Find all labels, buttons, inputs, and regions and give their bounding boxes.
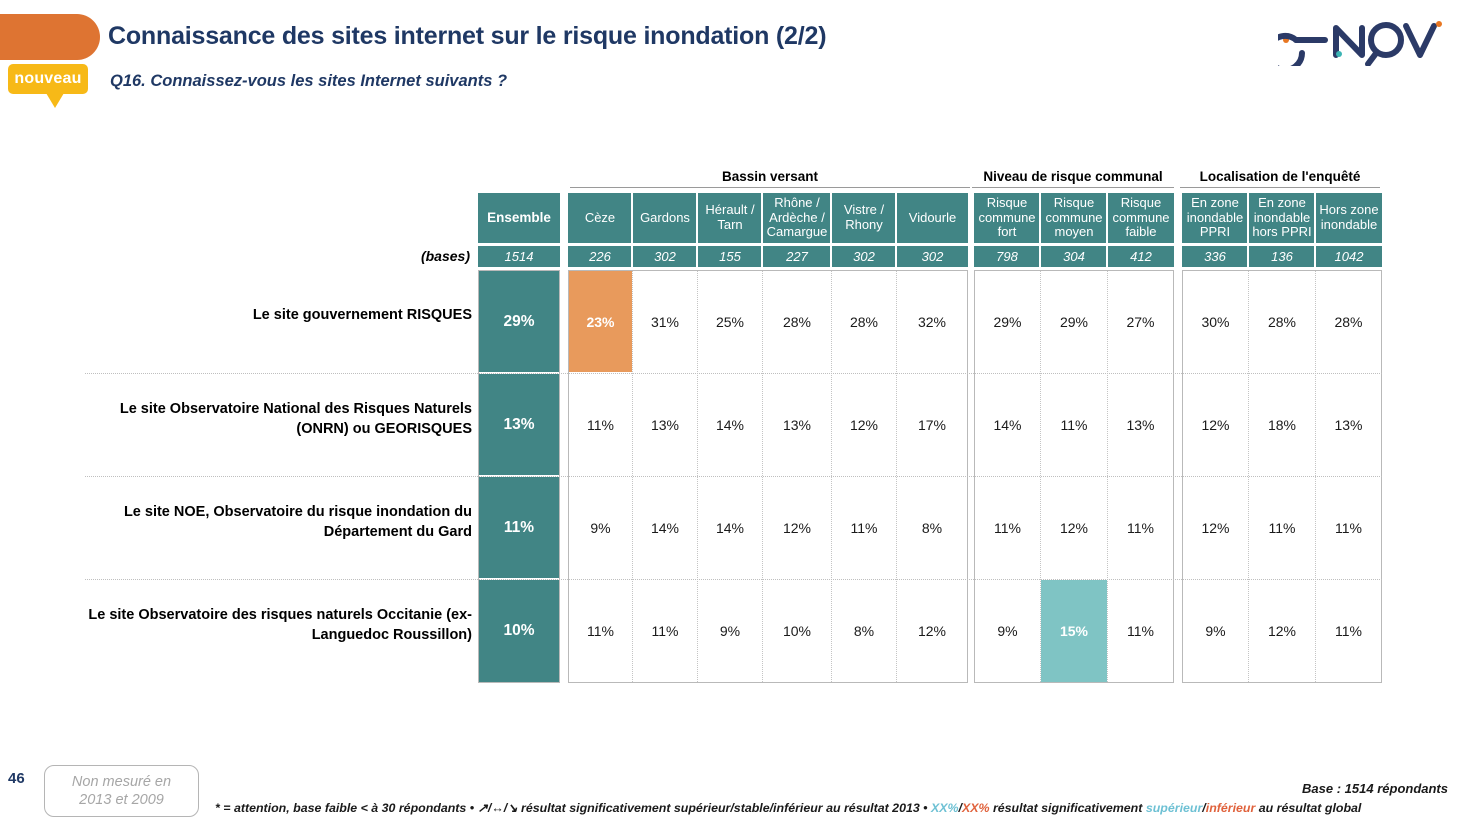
table-cell: 32%	[897, 271, 967, 372]
col-header-vistre-rhony: Vistre / Rhony	[832, 193, 896, 243]
row-ensemble-value: 13%	[479, 374, 559, 475]
header-divider	[1039, 193, 1041, 267]
col-header-zone-inondable-hors-ppri: En zone inondable hors PPRI	[1249, 193, 1315, 243]
table-cell: 11%	[975, 477, 1040, 578]
row-label: Le site Observatoire National des Risque…	[80, 400, 472, 439]
base-ensemble: 1514	[478, 246, 560, 267]
bases-label: (bases)	[300, 248, 470, 264]
table-cell: 14%	[633, 477, 697, 578]
table-cell: 29%	[1041, 271, 1107, 372]
header-accent-band	[0, 14, 100, 60]
table-cell: 11%	[1249, 477, 1315, 578]
table-cell: 11%	[569, 580, 632, 682]
table-cell: 12%	[1183, 477, 1248, 578]
base-gardons: 302	[633, 246, 697, 267]
col-header-hors-zone-inondable: Hors zone inondable	[1316, 193, 1382, 243]
legend-footnote: * = attention, base faible < à 30 répond…	[215, 800, 1361, 815]
row-ensemble-value: 10%	[479, 580, 559, 682]
row-ensemble-value: 11%	[479, 477, 559, 578]
table-cell: 12%	[1041, 477, 1107, 578]
header-divider	[631, 193, 633, 267]
table-cell: 28%	[763, 271, 831, 372]
col-header-zone-inondable-ppri: En zone inondable PPRI	[1182, 193, 1248, 243]
table-cell: 25%	[698, 271, 762, 372]
table-cell: 11%	[1316, 580, 1381, 682]
page-title: Connaissance des sites internet sur le r…	[108, 22, 826, 51]
enov-logo	[1278, 8, 1448, 66]
table-cell: 10%	[763, 580, 831, 682]
footnote-part1: * = attention, base faible < à 30 répond…	[215, 801, 931, 815]
header-divider	[895, 193, 897, 267]
footnote-xx-superior: XX%	[931, 801, 959, 815]
non-mesure-line2: 2013 et 2009	[79, 791, 164, 809]
group-rule-1	[570, 187, 970, 188]
col-header-risque-commune-faible: Risque commune faible	[1108, 193, 1174, 243]
table-cell: 29%	[975, 271, 1040, 372]
base-hors-zone-inondable: 1042	[1316, 246, 1382, 267]
table-cell: 28%	[1316, 271, 1381, 372]
table-cell: 28%	[1249, 271, 1315, 372]
group-rule-3	[1180, 187, 1380, 188]
table-cell: 11%	[832, 477, 896, 578]
group-header-bassin-versant: Bassin versant	[570, 169, 970, 184]
footnote-part3: au résultat global	[1255, 801, 1361, 815]
table-cell: 12%	[763, 477, 831, 578]
base-ceze: 226	[568, 246, 632, 267]
col-header-gardons: Gardons	[633, 193, 697, 243]
page-number: 46	[8, 770, 25, 787]
group-rule-2	[972, 187, 1174, 188]
question-label: Q16. Connaissez-vous les sites Internet …	[110, 72, 507, 91]
table-cell: 27%	[1108, 271, 1173, 372]
table-cell: 13%	[633, 374, 697, 475]
table-cell: 17%	[897, 374, 967, 475]
base-zone-inondable-ppri: 336	[1182, 246, 1248, 267]
table-cell: 18%	[1249, 374, 1315, 475]
table-cell: 9%	[975, 580, 1040, 682]
header-divider	[830, 193, 832, 267]
row-label: Le site NOE, Observatoire du risque inon…	[80, 503, 472, 542]
table-cell: 11%	[1316, 477, 1381, 578]
table-cell: 12%	[1183, 374, 1248, 475]
nouveau-badge-tail	[46, 93, 64, 108]
col-header-rhone-ardeche-camargue: Rhône / Ardèche / Camargue	[763, 193, 831, 243]
non-mesure-line1: Non mesuré en	[72, 773, 171, 791]
results-table: Bassin versant Niveau de risque communal…	[0, 160, 1462, 700]
base-risque-commune-moyen: 304	[1041, 246, 1107, 267]
table-cell: 13%	[1316, 374, 1381, 475]
table-cell: 11%	[569, 374, 632, 475]
base-risque-commune-faible: 412	[1108, 246, 1174, 267]
header-divider	[761, 193, 763, 267]
col-header-risque-commune-moyen: Risque commune moyen	[1041, 193, 1107, 243]
col-header-ensemble: Ensemble	[478, 193, 560, 243]
table-cell: 11%	[1041, 374, 1107, 475]
table-cell: 11%	[633, 580, 697, 682]
footnote-part2: résultat significativement	[990, 801, 1146, 815]
row-label: Le site gouvernement RISQUES	[80, 306, 472, 326]
table-cell: 12%	[897, 580, 967, 682]
table-cell: 9%	[1183, 580, 1248, 682]
footnote-xx-inferior: XX%	[962, 801, 990, 815]
table-cell: 15%	[1041, 580, 1107, 682]
col-header-risque-commune-fort: Risque commune fort	[974, 193, 1040, 243]
base-vidourle: 302	[897, 246, 968, 267]
table-cell: 8%	[832, 580, 896, 682]
row-label: Le site Observatoire des risques naturel…	[80, 606, 472, 645]
table-cell: 11%	[1108, 477, 1173, 578]
table-cell: 12%	[832, 374, 896, 475]
base-respondents-note: Base : 1514 répondants	[1302, 781, 1448, 796]
header-divider	[696, 193, 698, 267]
table-cell: 11%	[1108, 580, 1173, 682]
table-cell: 8%	[897, 477, 967, 578]
footnote-inferior-word: inférieur	[1206, 801, 1256, 815]
non-mesure-note: Non mesuré en 2013 et 2009	[44, 765, 199, 817]
col-header-ceze: Cèze	[568, 193, 632, 243]
nouveau-badge: nouveau	[8, 64, 88, 94]
base-rhone-ardeche-camargue: 227	[763, 246, 831, 267]
header-divider	[1106, 193, 1108, 267]
base-risque-commune-fort: 798	[974, 246, 1040, 267]
table-cell: 14%	[975, 374, 1040, 475]
col-header-herault-tarn: Hérault / Tarn	[698, 193, 762, 243]
table-cell: 14%	[698, 477, 762, 578]
table-cell: 28%	[832, 271, 896, 372]
table-cell: 12%	[1249, 580, 1315, 682]
table-cell: 9%	[698, 580, 762, 682]
table-cell: 23%	[569, 271, 632, 372]
group-header-niveau-risque: Niveau de risque communal	[972, 169, 1174, 184]
row-ensemble-value: 29%	[479, 271, 559, 372]
table-cell: 13%	[1108, 374, 1173, 475]
table-cell: 14%	[698, 374, 762, 475]
table-cell: 31%	[633, 271, 697, 372]
col-header-vidourle: Vidourle	[897, 193, 968, 243]
base-zone-inondable-hors-ppri: 136	[1249, 246, 1315, 267]
table-cell: 9%	[569, 477, 632, 578]
header-divider	[1247, 193, 1249, 267]
base-vistre-rhony: 302	[832, 246, 896, 267]
footnote-superior-word: supérieur	[1146, 801, 1202, 815]
group-header-localisation: Localisation de l'enquêté	[1180, 169, 1380, 184]
base-herault-tarn: 155	[698, 246, 762, 267]
table-cell: 13%	[763, 374, 831, 475]
table-cell: 30%	[1183, 271, 1248, 372]
header-divider	[1314, 193, 1316, 267]
